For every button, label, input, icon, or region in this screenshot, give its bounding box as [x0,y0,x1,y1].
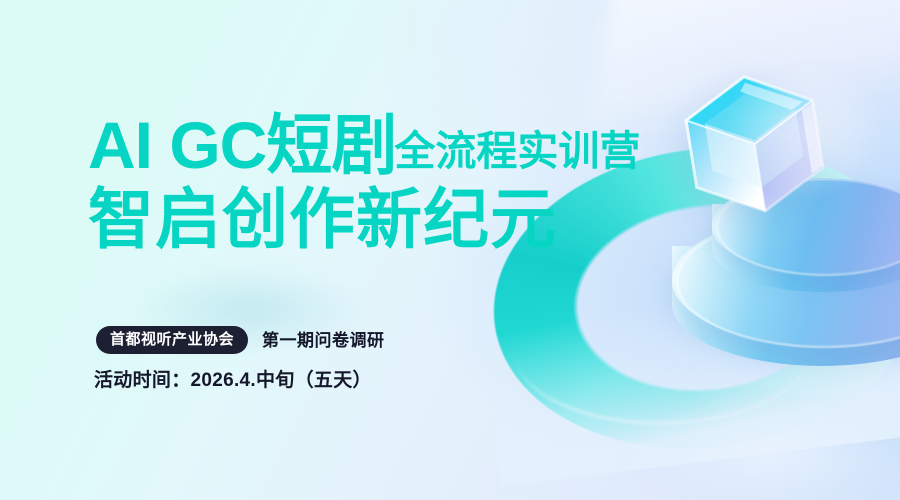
meta-row: 首都视听产业协会 第一期问卷调研 [96,326,385,354]
organizer-badge: 首都视听产业协会 [96,326,248,354]
event-date-line: 活动时间：2026.4.中旬（五天） [94,365,372,392]
banner-content: AI GC短剧全流程实训营 智启创作新纪元 首都视听产业协会 第一期问卷调研 活… [0,0,900,500]
headline-line-2: 智启创作新纪元 [88,186,557,252]
phase-label: 第一期问卷调研 [262,332,385,349]
promo-banner: AI GC短剧全流程实训营 智启创作新纪元 首都视听产业协会 第一期问卷调研 活… [0,0,900,500]
headline-line-1: AI GC短剧全流程实训营 [88,112,642,178]
headline-sub-text: 全流程实训营 [394,128,640,174]
headline-main-text: AI GC短剧 [88,108,396,182]
